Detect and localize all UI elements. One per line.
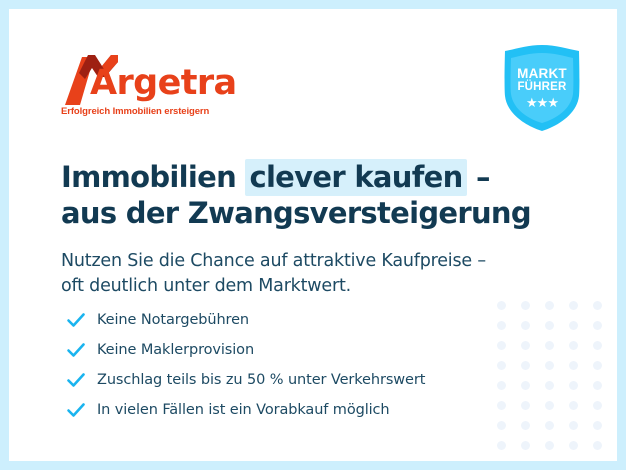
check-icon (65, 369, 87, 391)
decoration-dot (593, 381, 602, 390)
decoration-dot (569, 381, 578, 390)
ad-card: Argetra Erfolgreich Immobilien ersteiger… (9, 9, 617, 461)
decoration-dot (569, 401, 578, 410)
headline-part-2: – (467, 160, 490, 194)
decoration-dot (593, 321, 602, 330)
benefits-list: Keine Notargebühren Keine Maklerprovisio… (65, 305, 535, 425)
decoration-dot (497, 441, 506, 450)
decoration-dot (569, 341, 578, 350)
market-leader-badge: MARKT FÜHRER ★★★ (496, 42, 588, 134)
list-item-label: Keine Maklerprovision (97, 343, 254, 358)
list-item: Zuschlag teils bis zu 50 % unter Verkehr… (65, 365, 535, 395)
decoration-dot (593, 441, 602, 450)
list-item: Keine Notargebühren (65, 305, 535, 335)
list-item: Keine Maklerprovision (65, 335, 535, 365)
list-item-label: Zuschlag teils bis zu 50 % unter Verkehr… (97, 373, 425, 388)
subheadline: Nutzen Sie die Chance auf attraktive Kau… (61, 249, 551, 301)
decoration-dot (569, 301, 578, 310)
decoration-dot (569, 421, 578, 430)
headline-line-2: aus der Zwangsversteigerung (61, 196, 531, 230)
decoration-dot (545, 441, 554, 450)
logo-mark-row: Argetra (61, 53, 311, 105)
decoration-dot (593, 341, 602, 350)
list-item-label: In vielen Fällen ist ein Vorabkauf mögli… (97, 403, 390, 418)
logo-tagline: Erfolgreich Immobilien ersteigern (61, 106, 311, 117)
decoration-dot (545, 381, 554, 390)
brand-logo[interactable]: Argetra Erfolgreich Immobilien ersteiger… (61, 53, 311, 117)
check-icon (65, 399, 87, 421)
headline-part-1: Immobilien (61, 160, 245, 194)
decoration-dot (569, 361, 578, 370)
subheadline-line-1: Nutzen Sie die Chance auf attraktive Kau… (61, 251, 486, 271)
decoration-dot (545, 301, 554, 310)
decoration-dot (593, 401, 602, 410)
decoration-dot (569, 441, 578, 450)
list-item-label: Keine Notargebühren (97, 313, 249, 328)
subheadline-line-2: oft deutlich unter dem Marktwert. (61, 276, 351, 296)
decoration-dot (593, 421, 602, 430)
headline-highlight: clever kaufen (245, 159, 466, 196)
decoration-dot (593, 361, 602, 370)
decoration-dot (545, 321, 554, 330)
page-title: Immobilien clever kaufen – aus der Zwang… (61, 160, 541, 231)
logo-wordmark: Argetra (90, 66, 237, 101)
decoration-dot (545, 421, 554, 430)
decoration-dot (545, 361, 554, 370)
decoration-dot (593, 301, 602, 310)
decoration-dot (545, 401, 554, 410)
check-icon (65, 339, 87, 361)
shield-badge-icon (496, 42, 588, 134)
decoration-dot (521, 441, 530, 450)
check-icon (65, 309, 87, 331)
decoration-dot (545, 341, 554, 350)
decoration-dot (569, 321, 578, 330)
list-item: In vielen Fällen ist ein Vorabkauf mögli… (65, 395, 535, 425)
